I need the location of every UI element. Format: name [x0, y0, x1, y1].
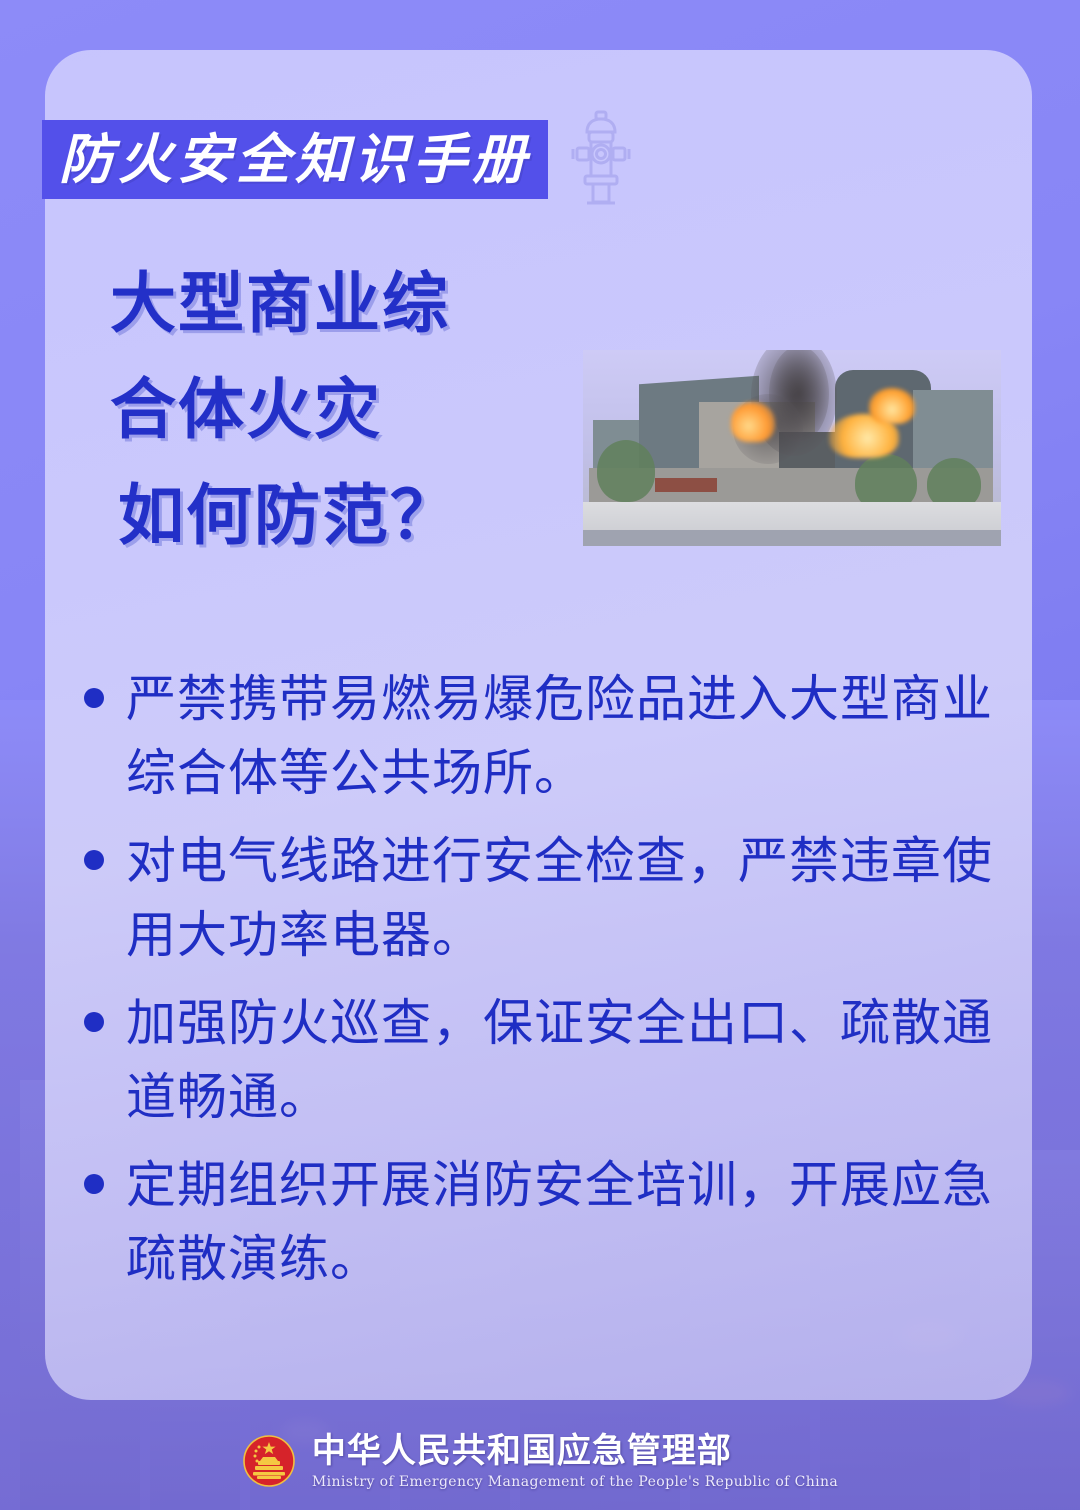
page-title-line-1: 大型商业综 — [110, 250, 458, 356]
list-item: 严禁携带易燃易爆危险品进入大型商业综合体等公共场所。 — [84, 662, 1004, 810]
footer-org-text: 中华人民共和国应急管理部 Ministry of Emergency Manag… — [312, 1432, 838, 1490]
footer-org-cn: 中华人民共和国应急管理部 — [312, 1432, 838, 1471]
list-item-text: 加强防火巡查，保证安全出口、疏散通道畅通。 — [126, 986, 1004, 1134]
list-item-text: 严禁携带易燃易爆危险品进入大型商业综合体等公共场所。 — [126, 662, 1004, 810]
list-item: 对电气线路进行安全检查，严禁违章使用大功率电器。 — [84, 824, 1004, 972]
page-title-line-3: 如何防范？ — [110, 462, 458, 568]
fire-hydrant-icon — [565, 108, 637, 208]
bullet-dot-icon — [84, 688, 104, 708]
list-item: 定期组织开展消防安全培训，开展应急疏散演练。 — [84, 1148, 1004, 1296]
fire-safety-poster: 防火安全知识手册 大型商业综 合体火灾 如何防范？ — [0, 0, 1080, 1510]
bullet-dot-icon — [84, 1174, 104, 1194]
list-item-text: 定期组织开展消防安全培训，开展应急疏散演练。 — [126, 1148, 1004, 1296]
footer: 中华人民共和国应急管理部 Ministry of Emergency Manag… — [0, 1432, 1080, 1490]
list-item: 加强防火巡查，保证安全出口、疏散通道畅通。 — [84, 986, 1004, 1134]
hero-fire-photo — [583, 350, 1001, 546]
bullet-dot-icon — [84, 850, 104, 870]
footer-org-en: Ministry of Emergency Management of the … — [312, 1474, 838, 1490]
photo-tree — [597, 440, 655, 502]
page-title-line-2: 合体火灾 — [110, 356, 458, 462]
photo-flame — [731, 402, 775, 442]
list-item-text: 对电气线路进行安全检查，严禁违章使用大功率电器。 — [126, 824, 1004, 972]
safety-tips-list: 严禁携带易燃易爆危险品进入大型商业综合体等公共场所。 对电气线路进行安全检查，严… — [84, 662, 1004, 1310]
handbook-badge: 防火安全知识手册 — [42, 120, 548, 199]
handbook-badge-label: 防火安全知识手册 — [59, 133, 531, 187]
photo-road — [583, 530, 1001, 546]
bullet-dot-icon — [84, 1012, 104, 1032]
photo-flame — [869, 388, 915, 424]
page-title: 大型商业综 合体火灾 如何防范？ — [110, 250, 458, 568]
national-emblem-icon — [242, 1434, 296, 1488]
photo-awning — [655, 478, 717, 492]
